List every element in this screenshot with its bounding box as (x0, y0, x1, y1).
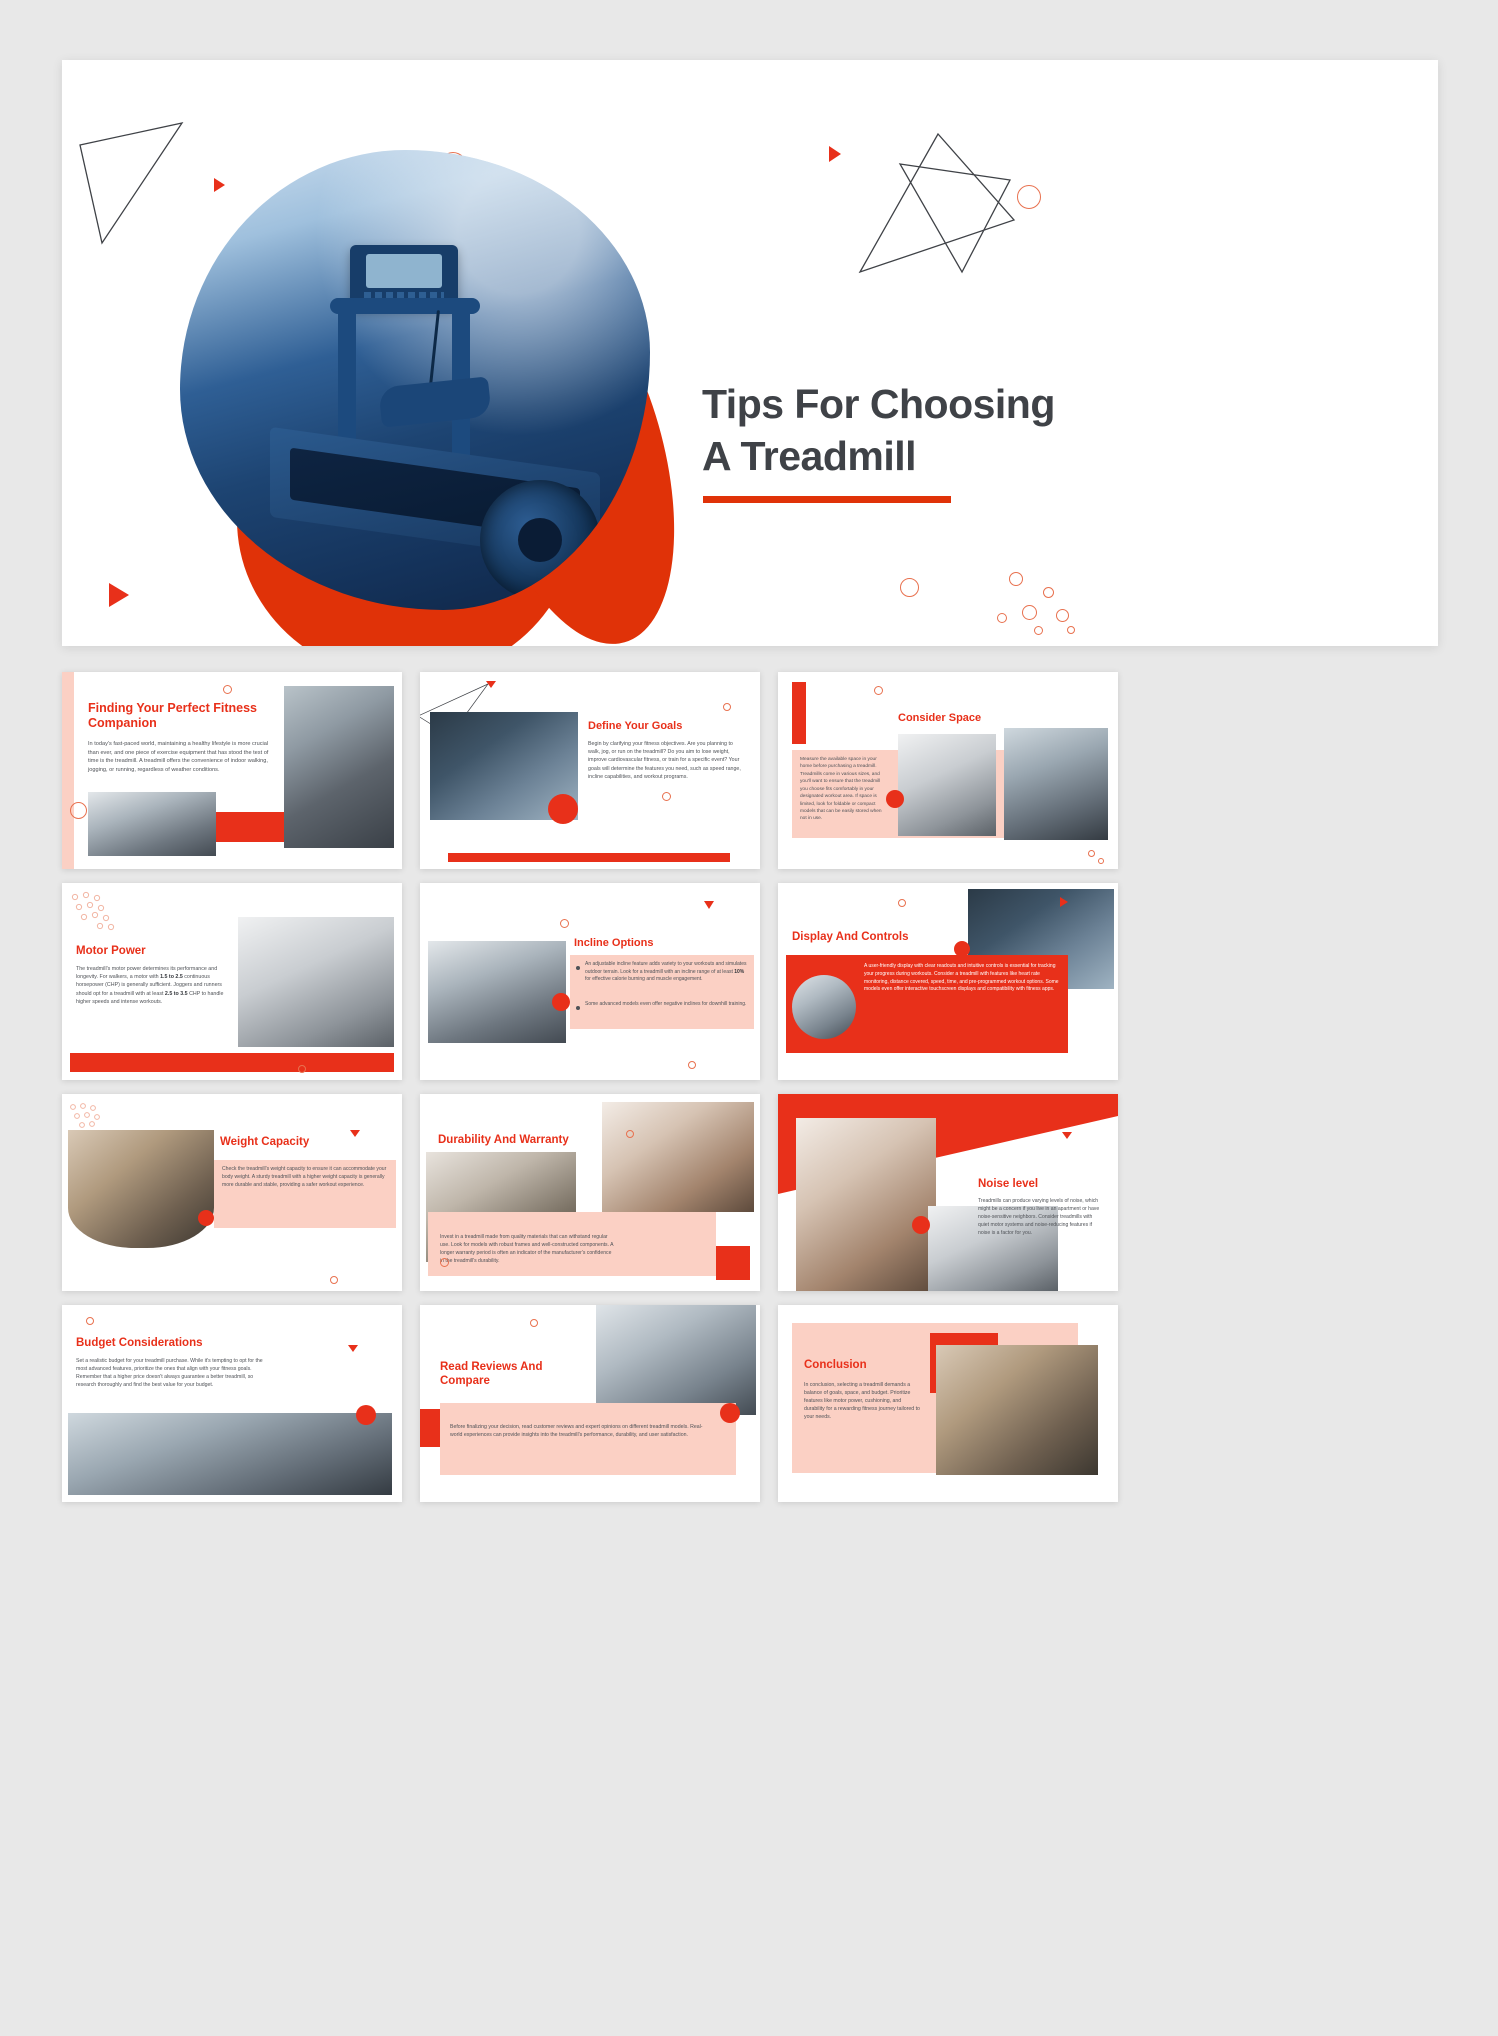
circle-outline-icon (1009, 572, 1023, 586)
orange-block (216, 812, 284, 842)
slide-image (68, 1130, 214, 1248)
slide-image (936, 1345, 1098, 1475)
circle-outline-icon (662, 792, 671, 801)
triangle-solid-icon (704, 901, 714, 909)
slide-image (796, 1118, 936, 1291)
orange-bar (448, 853, 730, 862)
circle-outline-icon (874, 686, 883, 695)
slide-thumbnail[interactable]: Display And Controls A user-friendly dis… (778, 883, 1118, 1080)
circle-outline-icon (1067, 626, 1075, 634)
slide-title: Read Reviews And Compare (440, 1361, 590, 1388)
orange-block (716, 1246, 750, 1280)
slide-title: Display And Controls (792, 931, 982, 945)
triangle-solid-icon (829, 146, 841, 162)
circle-outline-icon (723, 703, 731, 711)
slide-thumbnail[interactable]: Finding Your Perfect Fitness Companion I… (62, 672, 402, 869)
hero-title-underline (703, 496, 951, 503)
circle-outline-icon (1034, 626, 1043, 635)
circle-outline-icon (1056, 609, 1069, 622)
triangle-solid-icon (109, 583, 129, 607)
slide-body: Measure the available space in your home… (800, 756, 888, 823)
circle-outline-icon (688, 1061, 696, 1069)
dot-pattern-decoration (70, 891, 130, 931)
slide-body: In today's fast-paced world, maintaining… (88, 740, 278, 775)
slide-title: Conclusion (804, 1359, 944, 1373)
bullet-text-2: Some advanced models even offer negative… (585, 1001, 746, 1010)
slide-title: Durability And Warranty (438, 1134, 628, 1148)
circle-outline-icon (1088, 850, 1095, 857)
orange-circle (720, 1403, 740, 1423)
triangle-solid-icon (486, 681, 496, 688)
circle-outline-icon (70, 802, 87, 819)
slide-title: Noise level (978, 1178, 1108, 1192)
triangle-solid-icon (348, 1345, 358, 1352)
orange-circle (198, 1210, 214, 1226)
slide-image-circle (792, 975, 856, 1039)
slide-title: Incline Options (574, 937, 744, 950)
hero-title-line-2: A Treadmill (702, 430, 1132, 482)
triangle-outline-icon (70, 115, 190, 250)
orange-circle (886, 790, 904, 808)
slide-thumbnail[interactable]: Budget Considerations Set a realistic bu… (62, 1305, 402, 1502)
orange-circle (552, 993, 570, 1011)
slide-thumbnail[interactable]: Noise level Treadmills can produce varyi… (778, 1094, 1118, 1291)
slide-image (428, 941, 566, 1043)
slide-body: Begin by clarifying your fitness objecti… (588, 740, 746, 781)
circle-outline-icon (1098, 858, 1104, 864)
circle-outline-icon (900, 578, 919, 597)
slide-image (596, 1305, 756, 1415)
circle-outline-icon (997, 613, 1007, 623)
circle-outline-icon (440, 1258, 449, 1267)
slide-body: Before finalizing your decision, read cu… (450, 1423, 712, 1439)
circle-outline-icon (898, 899, 906, 907)
slide-thumbnail[interactable]: Incline Options An adjustable incline fe… (420, 883, 760, 1080)
hero-treadmill-image (180, 150, 650, 610)
orange-circle (954, 941, 970, 957)
slide-body: Invest in a treadmill made from quality … (440, 1234, 616, 1266)
circle-outline-icon (530, 1319, 538, 1327)
slide-thumbnail[interactable]: Motor Power The treadmill's motor power … (62, 883, 402, 1080)
circle-outline-icon (626, 1130, 634, 1138)
slide-title: Finding Your Perfect Fitness Companion (88, 701, 278, 731)
triangle-outline-icon (842, 122, 1022, 287)
slide-thumbnail-grid: Finding Your Perfect Fitness Companion I… (62, 672, 1438, 1502)
bullet-item: An adjustable incline feature adds varie… (576, 961, 748, 984)
slide-image (1004, 728, 1108, 840)
slide-body: Set a realistic budget for your treadmil… (76, 1357, 268, 1389)
slide-body: Check the treadmill's weight capacity to… (222, 1166, 388, 1190)
slide-body: Treadmills can produce varying levels of… (978, 1198, 1100, 1237)
slide-image (238, 917, 394, 1047)
slide-title: Consider Space (898, 712, 1088, 725)
circle-outline-icon (1017, 185, 1041, 209)
slide-image (898, 734, 996, 836)
circle-outline-icon (1043, 587, 1054, 598)
triangle-solid-icon (1062, 1132, 1072, 1139)
peach-bar (62, 672, 74, 869)
slide-thumbnail[interactable]: Conclusion In conclusion, selecting a tr… (778, 1305, 1118, 1502)
slide-image (602, 1102, 754, 1212)
orange-circle (548, 794, 578, 824)
slide-image (88, 792, 216, 856)
circle-outline-icon (223, 685, 232, 694)
slide-image (68, 1413, 392, 1495)
slide-body: A user-friendly display with clear reado… (864, 963, 1060, 994)
slide-title: Motor Power (76, 945, 236, 959)
circle-outline-icon (1022, 605, 1037, 620)
orange-bar (70, 1053, 394, 1072)
triangle-solid-icon (350, 1130, 360, 1137)
hero-slide[interactable]: Tips For Choosing A Treadmill (62, 60, 1438, 646)
circle-outline-icon (330, 1276, 338, 1284)
slide-thumbnail[interactable]: Define Your Goals Begin by clarifying yo… (420, 672, 760, 869)
orange-bar (792, 682, 806, 744)
slide-thumbnail[interactable]: Consider Space Measure the available spa… (778, 672, 1118, 869)
circle-outline-icon (86, 1317, 94, 1325)
presentation-preview-page: Tips For Choosing A Treadmill Finding Yo… (0, 0, 1498, 2036)
hero-title-line-1: Tips For Choosing (702, 378, 1132, 430)
orange-bar (420, 1409, 440, 1447)
slide-title: Weight Capacity (220, 1136, 390, 1150)
orange-circle (356, 1405, 376, 1425)
bullet-text-1: An adjustable incline feature adds varie… (585, 961, 748, 984)
slide-title: Define Your Goals (588, 720, 748, 733)
orange-circle (912, 1216, 930, 1234)
slide-body: In conclusion, selecting a treadmill dem… (804, 1381, 922, 1421)
circle-outline-icon (298, 1065, 306, 1073)
circle-outline-icon (560, 919, 569, 928)
triangle-solid-icon (1060, 897, 1068, 907)
slide-body-rich: The treadmill's motor power determines i… (76, 965, 226, 1006)
hero-title: Tips For Choosing A Treadmill (702, 378, 1132, 483)
bullet-item: Some advanced models even offer negative… (576, 1001, 748, 1010)
slide-title: Budget Considerations (76, 1337, 276, 1351)
slide-thumbnail[interactable]: Durability And Warranty Invest in a trea… (420, 1094, 760, 1291)
slide-image (284, 686, 394, 848)
slide-thumbnail[interactable]: Weight Capacity Check the treadmill's we… (62, 1094, 402, 1291)
slide-thumbnail[interactable]: Read Reviews And Compare Before finalizi… (420, 1305, 760, 1502)
